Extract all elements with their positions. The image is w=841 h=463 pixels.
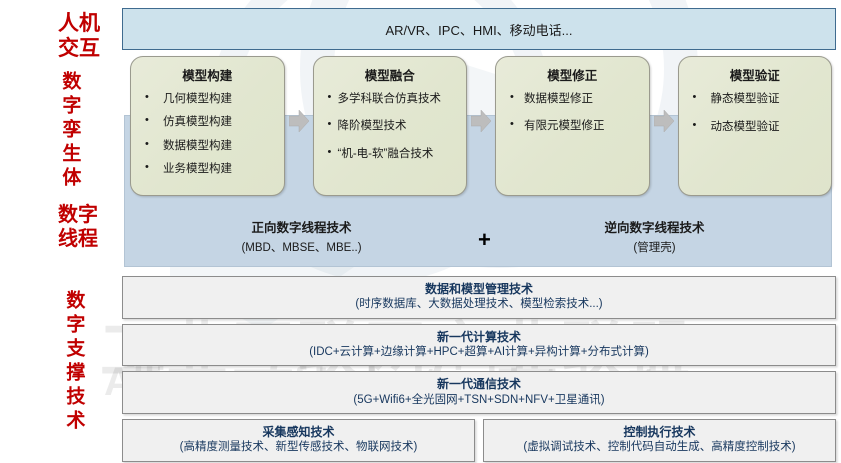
card-item: 静态模型验证 — [685, 92, 826, 106]
support-row-computing[interactable]: 新一代计算技术 (IDC+云计算+边缘计算+HPC+超算+AI计算+异构计算+分… — [122, 324, 836, 367]
card-item: 动态模型验证 — [685, 120, 826, 134]
card-model-fusion[interactable]: 模型融合 多学科联合仿真技术 降阶模型技术 “机-电-软”融合技术 — [313, 56, 468, 196]
support-tech-stack: 数据和模型管理技术 (时序数据库、大数据处理技术、模型检索技术...) 新一代计… — [122, 276, 836, 462]
support-row-title: 新一代通信技术 — [129, 376, 829, 392]
arrow-right-icon — [289, 110, 309, 132]
card-item-list: 数据模型修正 有限元模型修正 — [502, 92, 643, 134]
support-row-title: 数据和模型管理技术 — [129, 281, 829, 297]
support-row-communication[interactable]: 新一代通信技术 (5G+Wifi6+全光固网+TSN+SDN+NFV+卫星通讯) — [122, 371, 836, 414]
thread-forward-title: 正向数字线程技术 — [125, 218, 478, 239]
card-title: 模型修正 — [502, 65, 643, 84]
card-item: 多学科联合仿真技术 — [320, 92, 461, 106]
support-split-row: 采集感知技术 (高精度测量技术、新型传感技术、物联网技术) 控制执行技术 (虚拟… — [122, 419, 836, 462]
support-row-title: 采集感知技术 — [129, 424, 468, 440]
support-row-title: 控制执行技术 — [490, 424, 829, 440]
hmi-banner-text: AR/VR、IPC、HMI、移动电话... — [385, 20, 572, 39]
rail-label-digital-thread: 数字线程 — [42, 204, 114, 251]
card-item: “机-电-软”融合技术 — [320, 147, 461, 161]
support-row-sensing[interactable]: 采集感知技术 (高精度测量技术、新型传感技术、物联网技术) — [122, 419, 475, 462]
card-model-correction[interactable]: 模型修正 数据模型修正 有限元模型修正 — [495, 56, 650, 196]
card-item: 有限元模型修正 — [502, 119, 643, 133]
arrow-right-icon — [471, 110, 491, 132]
rail-label-digital-support-tech: 数字支撑技术 — [62, 282, 84, 442]
diagram-body: AR/VR、IPC、HMI、移动电话... 正向数字线程技术 (MBD、MBSE… — [122, 0, 838, 463]
card-item: 降阶模型技术 — [320, 119, 461, 133]
category-rail: 人机交互 数字孪生体 数字线程 数字支撑技术 — [0, 0, 118, 463]
card-item-list: 几何模型构建 仿真模型构建 数据模型构建 业务模型构建 — [137, 92, 278, 177]
support-row-sub: (5G+Wifi6+全光固网+TSN+SDN+NFV+卫星通讯) — [129, 393, 829, 409]
card-model-construction[interactable]: 模型构建 几何模型构建 仿真模型构建 数据模型构建 业务模型构建 — [130, 56, 285, 196]
arrow-gap-1 — [285, 56, 313, 196]
card-title: 模型验证 — [685, 65, 826, 84]
card-title: 模型融合 — [320, 65, 461, 84]
support-row-sub: (高精度测量技术、新型传感技术、物联网技术) — [129, 440, 468, 456]
plus-icon: + — [478, 229, 491, 251]
card-title: 模型构建 — [137, 65, 278, 84]
support-row-title: 新一代计算技术 — [129, 329, 829, 345]
model-card-row: 模型构建 几何模型构建 仿真模型构建 数据模型构建 业务模型构建 模型融合 多学… — [130, 56, 832, 196]
card-item: 数据模型修正 — [502, 92, 643, 106]
arrow-right-icon — [654, 110, 674, 132]
support-row-control[interactable]: 控制执行技术 (虚拟调试技术、控制代码自动生成、高精度控制技术) — [483, 419, 836, 462]
thread-reverse-sub: (管理壳) — [478, 239, 831, 259]
rail-label-human-machine-interaction: 人机交互 — [46, 12, 112, 62]
arrow-gap-3 — [650, 56, 678, 196]
card-item: 业务模型构建 — [137, 162, 278, 176]
digital-thread-row: 正向数字线程技术 (MBD、MBSE、MBE..) 逆向数字线程技术 (管理壳)… — [125, 208, 831, 268]
thread-reverse: 逆向数字线程技术 (管理壳) — [478, 218, 831, 259]
card-item: 仿真模型构建 — [137, 115, 278, 129]
card-item-list: 多学科联合仿真技术 降阶模型技术 “机-电-软”融合技术 — [320, 92, 461, 161]
thread-forward: 正向数字线程技术 (MBD、MBSE、MBE..) — [125, 218, 478, 259]
support-row-sub: (IDC+云计算+边缘计算+HPC+超算+AI计算+异构计算+分布式计算) — [129, 345, 829, 361]
rail-label-digital-twin: 数字孪生体 — [58, 68, 80, 193]
support-row-sub: (时序数据库、大数据处理技术、模型检索技术...) — [129, 297, 829, 313]
hmi-banner: AR/VR、IPC、HMI、移动电话... — [122, 8, 836, 50]
card-item: 数据模型构建 — [137, 139, 278, 153]
diagram-canvas: 工业互联网产业联盟 Alliance of Industrial Interne… — [0, 0, 841, 463]
card-item: 几何模型构建 — [137, 92, 278, 106]
card-item-list: 静态模型验证 动态模型验证 — [685, 92, 826, 135]
card-model-validation[interactable]: 模型验证 静态模型验证 动态模型验证 — [678, 56, 833, 196]
arrow-gap-2 — [467, 56, 495, 196]
thread-forward-sub: (MBD、MBSE、MBE..) — [125, 239, 478, 259]
support-row-data-model-management[interactable]: 数据和模型管理技术 (时序数据库、大数据处理技术、模型检索技术...) — [122, 276, 836, 319]
thread-reverse-title: 逆向数字线程技术 — [478, 218, 831, 239]
support-row-sub: (虚拟调试技术、控制代码自动生成、高精度控制技术) — [490, 440, 829, 456]
